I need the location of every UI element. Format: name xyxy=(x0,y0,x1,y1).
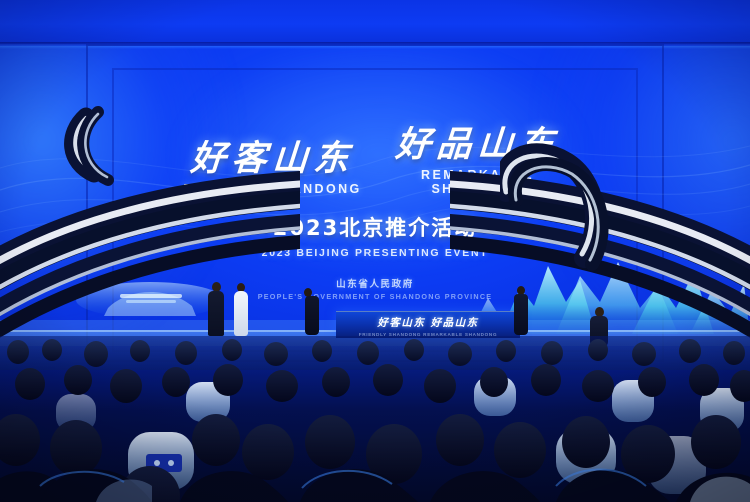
event-photo: 好客山东 FRIENDLY SHANDONG 好品山东 REMARKABLE S… xyxy=(0,0,750,502)
headline-left: 好客山东 FRIENDLY SHANDONG xyxy=(170,140,375,196)
audience-crowd xyxy=(0,336,750,502)
right-near-figure-body xyxy=(514,294,528,335)
headline-right-cn: 好品山东 xyxy=(374,126,582,164)
headline-left-en: FRIENDLY SHANDONG xyxy=(170,182,375,196)
podium-sign: 好客山东 好品山东 FRIENDLY SHANDONG REMARKABLE S… xyxy=(336,311,520,338)
stage-host-male xyxy=(205,282,227,337)
headline-row: 好客山东 FRIENDLY SHANDONG 好品山东 REMARKABLE S… xyxy=(0,126,750,196)
host-female-body xyxy=(234,291,248,336)
stage-figure-bowing xyxy=(303,288,321,336)
bowing-figure-body xyxy=(305,296,319,335)
headline-left-cn: 好客山东 xyxy=(169,140,377,178)
host-male-body xyxy=(208,291,224,336)
audience-area xyxy=(0,336,750,502)
podium-sign-cn: 好客山东 好品山东 xyxy=(336,315,520,330)
stage-host-female xyxy=(231,283,251,337)
led-wall-top-band xyxy=(0,0,750,44)
headline-right: 好品山东 REMARKABLE SHANDONG xyxy=(375,126,580,196)
headline-right-en: REMARKABLE SHANDONG xyxy=(375,168,580,196)
stage-figure-right-near xyxy=(512,286,530,336)
